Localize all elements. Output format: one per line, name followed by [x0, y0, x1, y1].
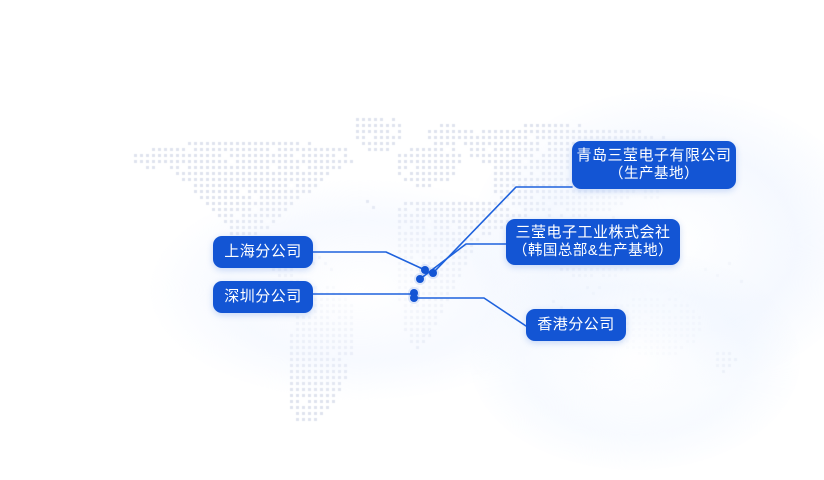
world-map-branch-diagram: 青岛三莹电子有限公司（生产基地）三莹电子工业株式会社（韩国总部&生产基地）上海分… — [0, 0, 824, 480]
marker-hongkong[interactable] — [410, 294, 418, 302]
label-box-shanghai[interactable]: 上海分公司 — [213, 236, 313, 268]
marker-shanghai[interactable] — [421, 266, 429, 274]
marker-korea[interactable] — [416, 275, 424, 283]
label-line-primary: 三莹电子工业株式会社 — [516, 223, 671, 243]
label-line-primary: 上海分公司 — [224, 242, 302, 262]
label-line-secondary: （生产基地） — [609, 165, 699, 184]
connector-lines — [0, 0, 824, 480]
connector-hongkong — [414, 298, 526, 326]
marker-qingdao[interactable] — [429, 269, 437, 277]
label-box-korea[interactable]: 三莹电子工业株式会社（韩国总部&生产基地） — [506, 219, 680, 265]
label-box-shenzhen[interactable]: 深圳分公司 — [213, 281, 313, 313]
label-box-hongkong[interactable]: 香港分公司 — [526, 309, 626, 341]
label-line-primary: 香港分公司 — [537, 315, 615, 335]
label-line-secondary: （韩国总部&生产基地） — [513, 242, 673, 261]
label-box-qingdao[interactable]: 青岛三莹电子有限公司（生产基地） — [572, 141, 736, 189]
label-line-primary: 青岛三莹电子有限公司 — [577, 146, 732, 166]
label-line-primary: 深圳分公司 — [224, 287, 302, 307]
connector-shanghai — [313, 252, 425, 270]
